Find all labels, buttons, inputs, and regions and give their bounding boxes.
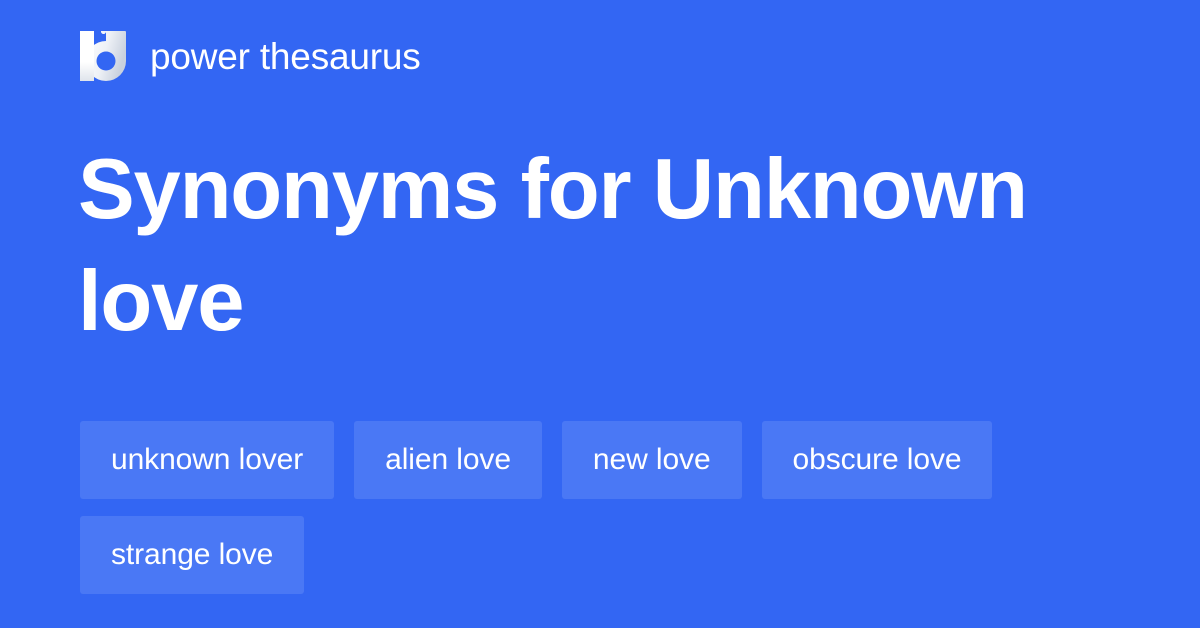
- synonym-chip[interactable]: new love: [562, 421, 742, 499]
- synonym-chip[interactable]: unknown lover: [80, 421, 334, 499]
- synonym-chip-list: unknown lover alien love new love obscur…: [80, 421, 1130, 594]
- brand-name: power thesaurus: [150, 38, 421, 75]
- synonym-chip[interactable]: alien love: [354, 421, 542, 499]
- synonym-chip[interactable]: obscure love: [762, 421, 993, 499]
- power-thesaurus-b-logo-icon: [80, 31, 126, 81]
- brand-logo[interactable]: power thesaurus: [80, 28, 421, 84]
- page-title: Synonyms for Unknown love: [78, 134, 1118, 358]
- synonyms-card: power thesaurus Synonyms for Unknown lov…: [0, 0, 1200, 628]
- synonym-chip[interactable]: strange love: [80, 516, 304, 594]
